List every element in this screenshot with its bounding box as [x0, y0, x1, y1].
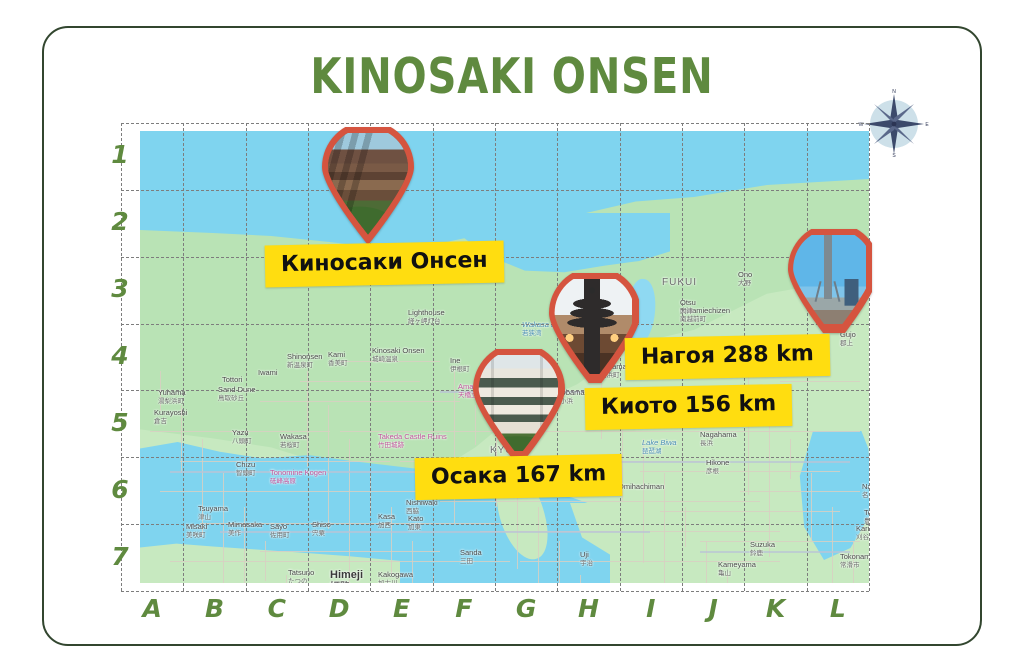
grid-column-label-d: D [324, 594, 354, 623]
map-label-en: Kinosaki Onsen [372, 346, 425, 355]
map-label-jp: 鳥取砂丘 [218, 395, 256, 402]
map-label-en: Kami [328, 350, 345, 359]
map-label: Ono大野 [738, 271, 752, 287]
map-label-en: Uji [580, 550, 589, 559]
map-label-jp: 経ヶ岬灯台 [408, 318, 445, 325]
grid-column-label-b: B [200, 594, 230, 623]
compass-east-label: E [925, 122, 929, 128]
grid-row-label-4: 4 [105, 341, 135, 370]
road-segment [170, 561, 510, 562]
grid-column-label-e: E [387, 594, 417, 623]
map-label: Nagoya名古屋 [862, 483, 869, 499]
map-pin-osaka[interactable] [469, 349, 565, 461]
map-label-en: Nagoya [862, 482, 869, 491]
grid-row-label-2: 2 [105, 207, 135, 236]
road-segment [260, 401, 460, 402]
grid-column-label-h: H [574, 594, 604, 623]
road-segment [769, 405, 770, 557]
map-label: Wakasa若桜町 [280, 433, 307, 449]
road-segment [286, 575, 287, 583]
road-segment [685, 507, 686, 547]
map-label-en: Tokoname [840, 552, 869, 561]
map-label: Yuhama湯梨浜町 [158, 389, 186, 405]
map-label-en: Takeda Castle Ruins [378, 432, 447, 441]
page-title: KINOSAKI ONSEN [92, 48, 932, 105]
road-segment [180, 461, 390, 462]
map-label-jp: 新温泉町 [287, 362, 322, 369]
map-label-en: Lighthouse [408, 308, 445, 317]
map-label-jp: 美作 [228, 530, 262, 537]
map-label-jp: 姫路 [330, 582, 363, 583]
map-label: Shinonsen新温泉町 [287, 353, 322, 369]
map-label: Himeji姫路 [330, 569, 363, 583]
map-label-jp: 竹田城跡 [378, 442, 447, 449]
map-label-en: Tsuyama [198, 504, 228, 513]
map-label: Kariya刈谷 [856, 525, 869, 541]
map-label-en: Kakogawa [378, 570, 413, 579]
map-label: Lighthouse経ヶ岬灯台 [408, 309, 445, 325]
grid-column-label-l: L [823, 594, 853, 623]
map-label-jp: 鈴鹿 [750, 550, 775, 557]
grid-column-label-f: F [449, 594, 479, 623]
grid-row-label-5: 5 [105, 408, 135, 437]
map-label: Kasa加西 [378, 513, 395, 529]
map-label-jp: 大津 [680, 308, 696, 315]
callout-nagoya[interactable]: Нагоя 288 km [625, 334, 831, 380]
map-label: Toyota豊田 [864, 509, 869, 525]
grid-column-label-g: G [511, 594, 541, 623]
road-segment [559, 541, 560, 583]
road-segment [640, 471, 840, 472]
map-label-jp: 津山 [198, 514, 228, 521]
map-label: Gujo郡上 [840, 331, 856, 347]
road-segment [300, 381, 420, 382]
map-label-en: Kato [408, 514, 423, 523]
grid-column-label-c: C [262, 594, 292, 623]
map-label: Tsuyama津山 [198, 505, 228, 521]
map-label-en: Shinonsen [287, 352, 322, 361]
map-label-jp: 長浜 [700, 440, 737, 447]
map-label: Nagahama長浜 [700, 431, 737, 447]
poster-root: KINOSAKI ONSEN N E S W [0, 0, 1024, 672]
grid-column-label-j: J [698, 594, 728, 623]
map-label: Kameyama亀山 [718, 561, 756, 577]
map-label-jp: 琵琶湖 [642, 448, 677, 455]
road-segment [265, 541, 266, 581]
road-segment [244, 507, 245, 583]
map-label-jp: 砥峰高原 [270, 478, 326, 485]
map-label-en: FUKUI [662, 277, 697, 288]
map-label-jp: 宇治 [580, 560, 593, 567]
map-label-en: Iwami [258, 368, 278, 377]
map-label-en: Hikone [706, 458, 729, 467]
map-label: Shiso宍粟 [312, 521, 331, 537]
road-segment [643, 439, 644, 563]
road-segment [433, 575, 434, 583]
map-label: Omihachiman [618, 483, 664, 492]
compass-north-label: N [892, 89, 896, 95]
map-label-en: Iga [634, 582, 644, 583]
map-label: Sand Dune鳥取砂丘 [218, 386, 256, 402]
map-label-jp: 豊田 [864, 518, 869, 525]
grid-column-label-i: I [636, 594, 666, 623]
map-label: Tottori [222, 376, 242, 385]
map-label-en: Ine [450, 356, 460, 365]
map-label-en: Sand Dune [218, 385, 256, 394]
road-segment [538, 507, 539, 583]
map-label: Nishiwaki西脇 [406, 499, 438, 515]
map-label: Kato加東 [408, 515, 423, 531]
map-label: Kami香美町 [328, 351, 348, 367]
map-label-jp: 湯梨浜町 [158, 398, 186, 405]
map-label-jp: 宍粟 [312, 530, 331, 537]
map-label-en: Yuhama [158, 388, 186, 397]
road-segment [328, 405, 329, 529]
road-segment [260, 551, 440, 552]
map-label-jp: 彦根 [706, 468, 729, 475]
highway-segment [620, 461, 850, 463]
compass-south-label: S [892, 153, 896, 158]
map-label-en: Sanda [460, 548, 482, 557]
map-label-jp: 倉吉 [154, 418, 187, 425]
map-label: Otsu大津 [680, 299, 696, 315]
grid-column-label-k: K [761, 594, 791, 623]
map-label-en: Kurayoshi [154, 408, 187, 417]
map-label: Mimasaka美作 [228, 521, 262, 537]
map-label: Takeda Castle Ruins竹田城跡 [378, 433, 447, 449]
map-label: Uji宇治 [580, 551, 593, 567]
road-segment [580, 575, 581, 583]
compass-west-label: W [859, 122, 864, 128]
map-label-en: Tottori [222, 375, 242, 384]
callout-kinosaki[interactable]: Киносаки Онсен [265, 241, 504, 288]
road-segment [307, 371, 308, 467]
map-pin-nagoya[interactable] [784, 229, 872, 333]
map-label: Yazu八頭町 [232, 429, 252, 445]
road-segment [440, 501, 760, 502]
pin-photo-osaka [476, 355, 559, 451]
map-label-jp: たつの [288, 578, 314, 583]
map-label-jp: 八頭町 [232, 438, 252, 445]
map-label-jp: 亀山 [718, 570, 756, 577]
map-label: Tokoname常滑市 [840, 553, 869, 569]
map-label-en: Chizu [236, 460, 255, 469]
map-label-jp: 美咲町 [186, 532, 207, 539]
map-label-en: Yazu [232, 428, 249, 437]
map-label: Suzuka鈴鹿 [750, 541, 775, 557]
road-segment [660, 511, 840, 512]
map-label: Kinosaki Onsen城崎温泉 [372, 347, 425, 363]
map-label: Sayo佐用町 [270, 523, 290, 539]
map-label-jp: 三田 [460, 558, 482, 565]
map-label-en: Lake Biwa [642, 438, 677, 447]
grid-row-label-3: 3 [105, 274, 135, 303]
map-label-jp: 郡上 [840, 340, 856, 347]
map-label: Misaki美咲町 [186, 523, 207, 539]
map-label-jp: 若桜町 [280, 442, 307, 449]
map-label-en: Wakasa [280, 432, 307, 441]
map-label-en: Kameyama [718, 560, 756, 569]
road-segment [370, 473, 371, 513]
road-segment [832, 507, 833, 583]
road-segment [780, 381, 860, 382]
map-label-en: Omihachiman [618, 482, 664, 491]
grid-row-label-6: 6 [105, 475, 135, 504]
map-label-jp: 刈谷 [856, 534, 869, 541]
map-label-jp: 南越前町 [680, 316, 730, 323]
grid-column-label-a: A [137, 594, 167, 623]
map-label-en: Mimasaka [228, 520, 262, 529]
road-segment [790, 439, 791, 479]
pin-photo-kinosaki [325, 133, 411, 234]
map-label-en: Tonomine Kogen [270, 468, 326, 477]
road-segment [700, 541, 860, 542]
map-label: Lake Biwa琵琶湖 [642, 439, 677, 455]
map-label-en: Nagahama [700, 430, 737, 439]
grid-row-label-1: 1 [105, 140, 135, 169]
callout-kyoto[interactable]: Киото 156 km [585, 384, 793, 430]
road-segment [760, 431, 860, 432]
road-segment [811, 473, 812, 541]
map-label-jp: 伊根町 [450, 366, 470, 373]
map-label: Tatsunoたつの [288, 569, 314, 583]
map-label-jp: 佐用町 [270, 532, 290, 539]
map-label: Hikone彦根 [706, 459, 729, 475]
road-segment [740, 491, 860, 492]
road-segment [160, 491, 420, 492]
map-label: Iwami [258, 369, 278, 378]
map-pin-kinosaki[interactable] [318, 127, 418, 245]
map-label-jp: 香美町 [328, 360, 348, 367]
map-label-en: Ono [738, 270, 752, 279]
grid-row-label-7: 7 [105, 542, 135, 571]
map-label-en: Otsu [680, 298, 696, 307]
map-label-jp: 城崎温泉 [372, 356, 425, 363]
map-label-jp: 大野 [738, 280, 752, 287]
map-label-en: Shiso [312, 520, 331, 529]
map-label-jp: 加東 [408, 524, 423, 531]
map-label-jp: 智頭町 [236, 470, 256, 477]
map-label-en: Toyota [864, 508, 869, 517]
map-label-en: Kariya [856, 524, 869, 533]
map-label: Ine伊根町 [450, 357, 470, 373]
map-label-en: Himeji [330, 569, 363, 581]
map-label-jp: 加西 [378, 522, 395, 529]
map-label: FUKUI [662, 277, 697, 289]
map-label: Tonomine Kogen砥峰高原 [270, 469, 326, 485]
map-label: Kakogawa加古川 [378, 571, 413, 583]
map-label-jp: 常滑市 [840, 562, 869, 569]
road-segment [223, 473, 224, 583]
road-segment [706, 541, 707, 583]
map-label-en: Kasa [378, 512, 395, 521]
map-label: Sanda三田 [460, 549, 482, 565]
map-label-jp: 名古屋 [862, 492, 869, 499]
road-segment [349, 439, 350, 583]
map-label: Chizu智頭町 [236, 461, 256, 477]
map-label-en: Suzuka [750, 540, 775, 549]
map-label-jp: 加古川 [378, 580, 413, 583]
map-label-en: Sayo [270, 522, 287, 531]
road-segment [454, 371, 455, 523]
map-label-en: Tatsuno [288, 568, 314, 577]
map-label-en: Misaki [186, 522, 207, 531]
callout-osaka[interactable]: Осака 167 km [415, 454, 623, 500]
map-label: Kurayoshi倉吉 [154, 409, 187, 425]
